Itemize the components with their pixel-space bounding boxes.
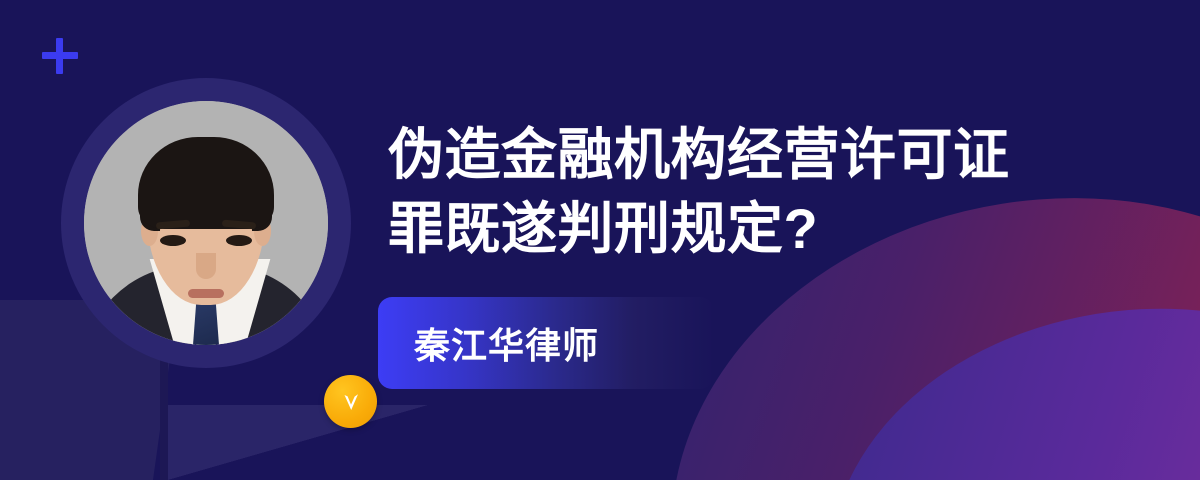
deco-triangle-wedge (168, 405, 428, 480)
plus-icon (40, 36, 80, 76)
verified-v-icon (324, 375, 377, 428)
avatar-photo (84, 101, 328, 345)
page-title: 伪造金融机构经营许可证 罪既遂判刑规定? (388, 118, 1088, 267)
lawyer-qa-banner: 伪造金融机构经营许可证 罪既遂判刑规定? 秦江华律师 (0, 0, 1200, 480)
avatar (61, 78, 351, 368)
author-name-label: 秦江华律师 (378, 317, 599, 369)
avatar-ring (61, 78, 351, 368)
author-name-badge: 秦江华律师 (378, 297, 714, 389)
